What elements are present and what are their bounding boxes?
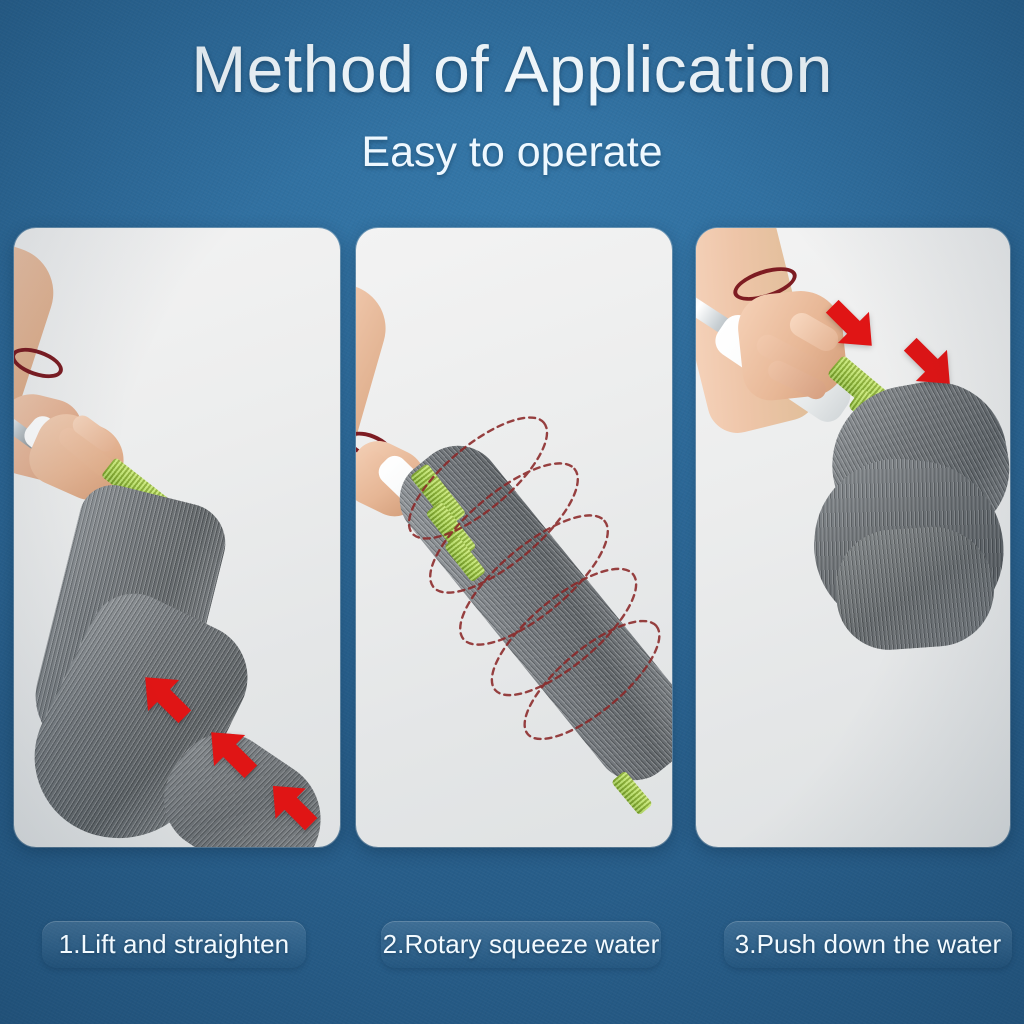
mop-bundle-lower-3 xyxy=(832,523,998,654)
step-caption-1: 1.Lift and straighten xyxy=(42,921,306,968)
step-image-1 xyxy=(14,228,340,847)
motion-arrow-1c xyxy=(261,774,323,836)
page-title: Method of Application xyxy=(0,36,1024,102)
motion-arrow-1b xyxy=(199,720,263,784)
motion-arrow-3b xyxy=(898,332,962,396)
page-subtitle: Easy to operate xyxy=(0,131,1024,174)
step-image-2 xyxy=(356,228,672,847)
step-caption-3: 3.Push down the water xyxy=(724,921,1012,968)
motion-arrow-3a xyxy=(820,294,884,358)
step-image-3 xyxy=(696,228,1010,847)
motion-arrow-1a xyxy=(133,665,197,729)
product-infographic: Method of Application Easy to operate xyxy=(0,0,1024,1024)
step-caption-2: 2.Rotary squeeze water xyxy=(381,921,661,968)
rotation-helix-indicator xyxy=(356,228,672,847)
